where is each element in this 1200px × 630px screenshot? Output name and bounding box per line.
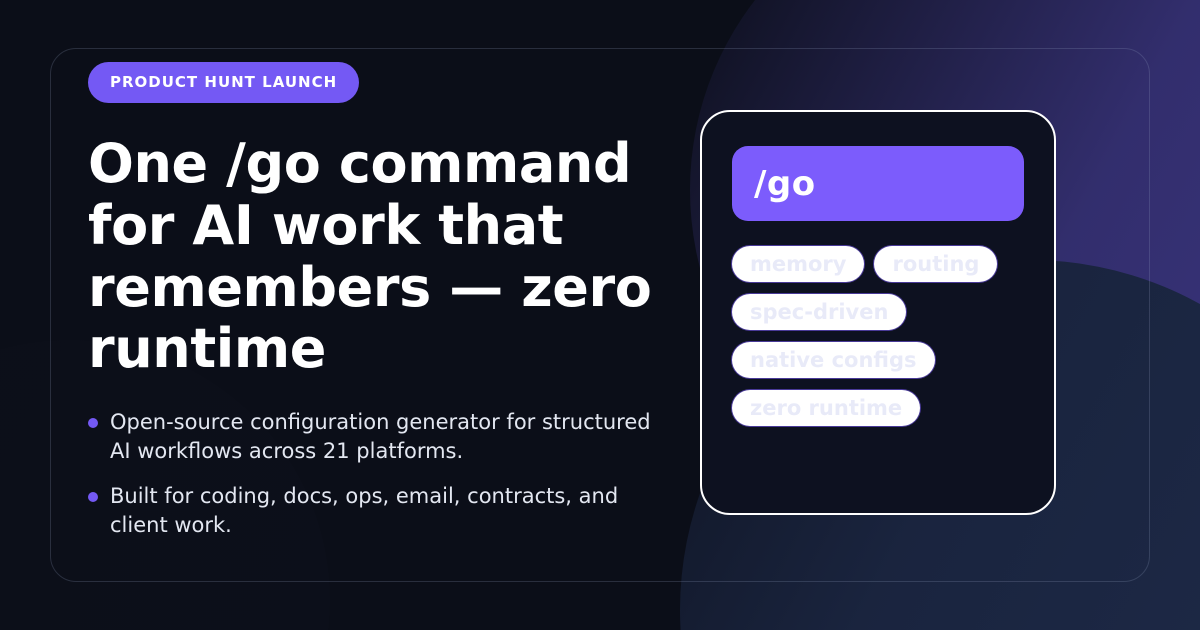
right-column: /go memory routing spec-driven native co… [700, 0, 1200, 630]
go-command-label: /go [754, 164, 816, 204]
bullet-text: Open-source configuration generator for … [110, 408, 670, 465]
capability-pill-list: memory routing spec-driven native config… [732, 246, 1024, 426]
bullet-dot-icon [88, 492, 98, 502]
capability-pill-memory: memory [732, 246, 864, 282]
launch-badge: PRODUCT HUNT LAUNCH [88, 62, 359, 103]
capability-pill-routing: routing [874, 246, 997, 282]
list-item: Open-source configuration generator for … [88, 408, 700, 465]
content-area: PRODUCT HUNT LAUNCH One /go command for … [0, 0, 1200, 630]
capability-pill-spec-driven: spec-driven [732, 294, 906, 330]
pill-row: native configs [732, 342, 1024, 378]
feature-bullet-list: Open-source configuration generator for … [88, 408, 700, 539]
bullet-text: Built for coding, docs, ops, email, cont… [110, 482, 670, 539]
left-column: PRODUCT HUNT LAUNCH One /go command for … [0, 0, 700, 540]
list-item: Built for coding, docs, ops, email, cont… [88, 482, 700, 539]
pill-row: memory routing [732, 246, 1024, 282]
page-title: One /go command for AI work that remembe… [88, 133, 688, 380]
command-preview-card: /go memory routing spec-driven native co… [700, 110, 1056, 515]
bullet-dot-icon [88, 418, 98, 428]
capability-pill-native-configs: native configs [732, 342, 935, 378]
capability-pill-zero-runtime: zero runtime [732, 390, 920, 426]
pill-row: zero runtime [732, 390, 1024, 426]
go-command-box[interactable]: /go [732, 146, 1024, 221]
pill-row: spec-driven [732, 294, 1024, 330]
